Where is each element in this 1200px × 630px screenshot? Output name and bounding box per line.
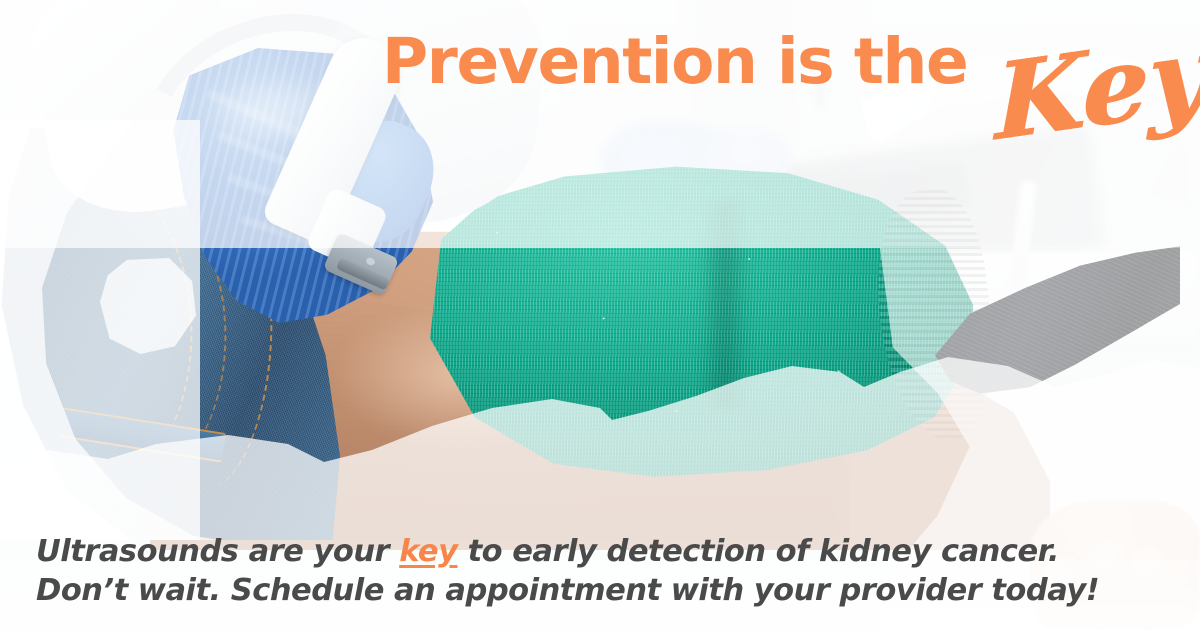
caption-keyword: key <box>399 534 457 569</box>
caption-line-2: Don’t wait. Schedule an appointment with… <box>36 571 1176 610</box>
caption-line-1: Ultrasounds are your key to early detect… <box>36 532 1176 571</box>
caption-line-1-before: Ultrasounds are your <box>36 534 399 569</box>
caption-line-1-after: to early detection of kidney cancer. <box>457 534 1058 569</box>
caption: Ultrasounds are your key to early detect… <box>36 532 1176 610</box>
awareness-banner: Prevention is the Key Ultrasounds are yo… <box>0 0 1200 630</box>
